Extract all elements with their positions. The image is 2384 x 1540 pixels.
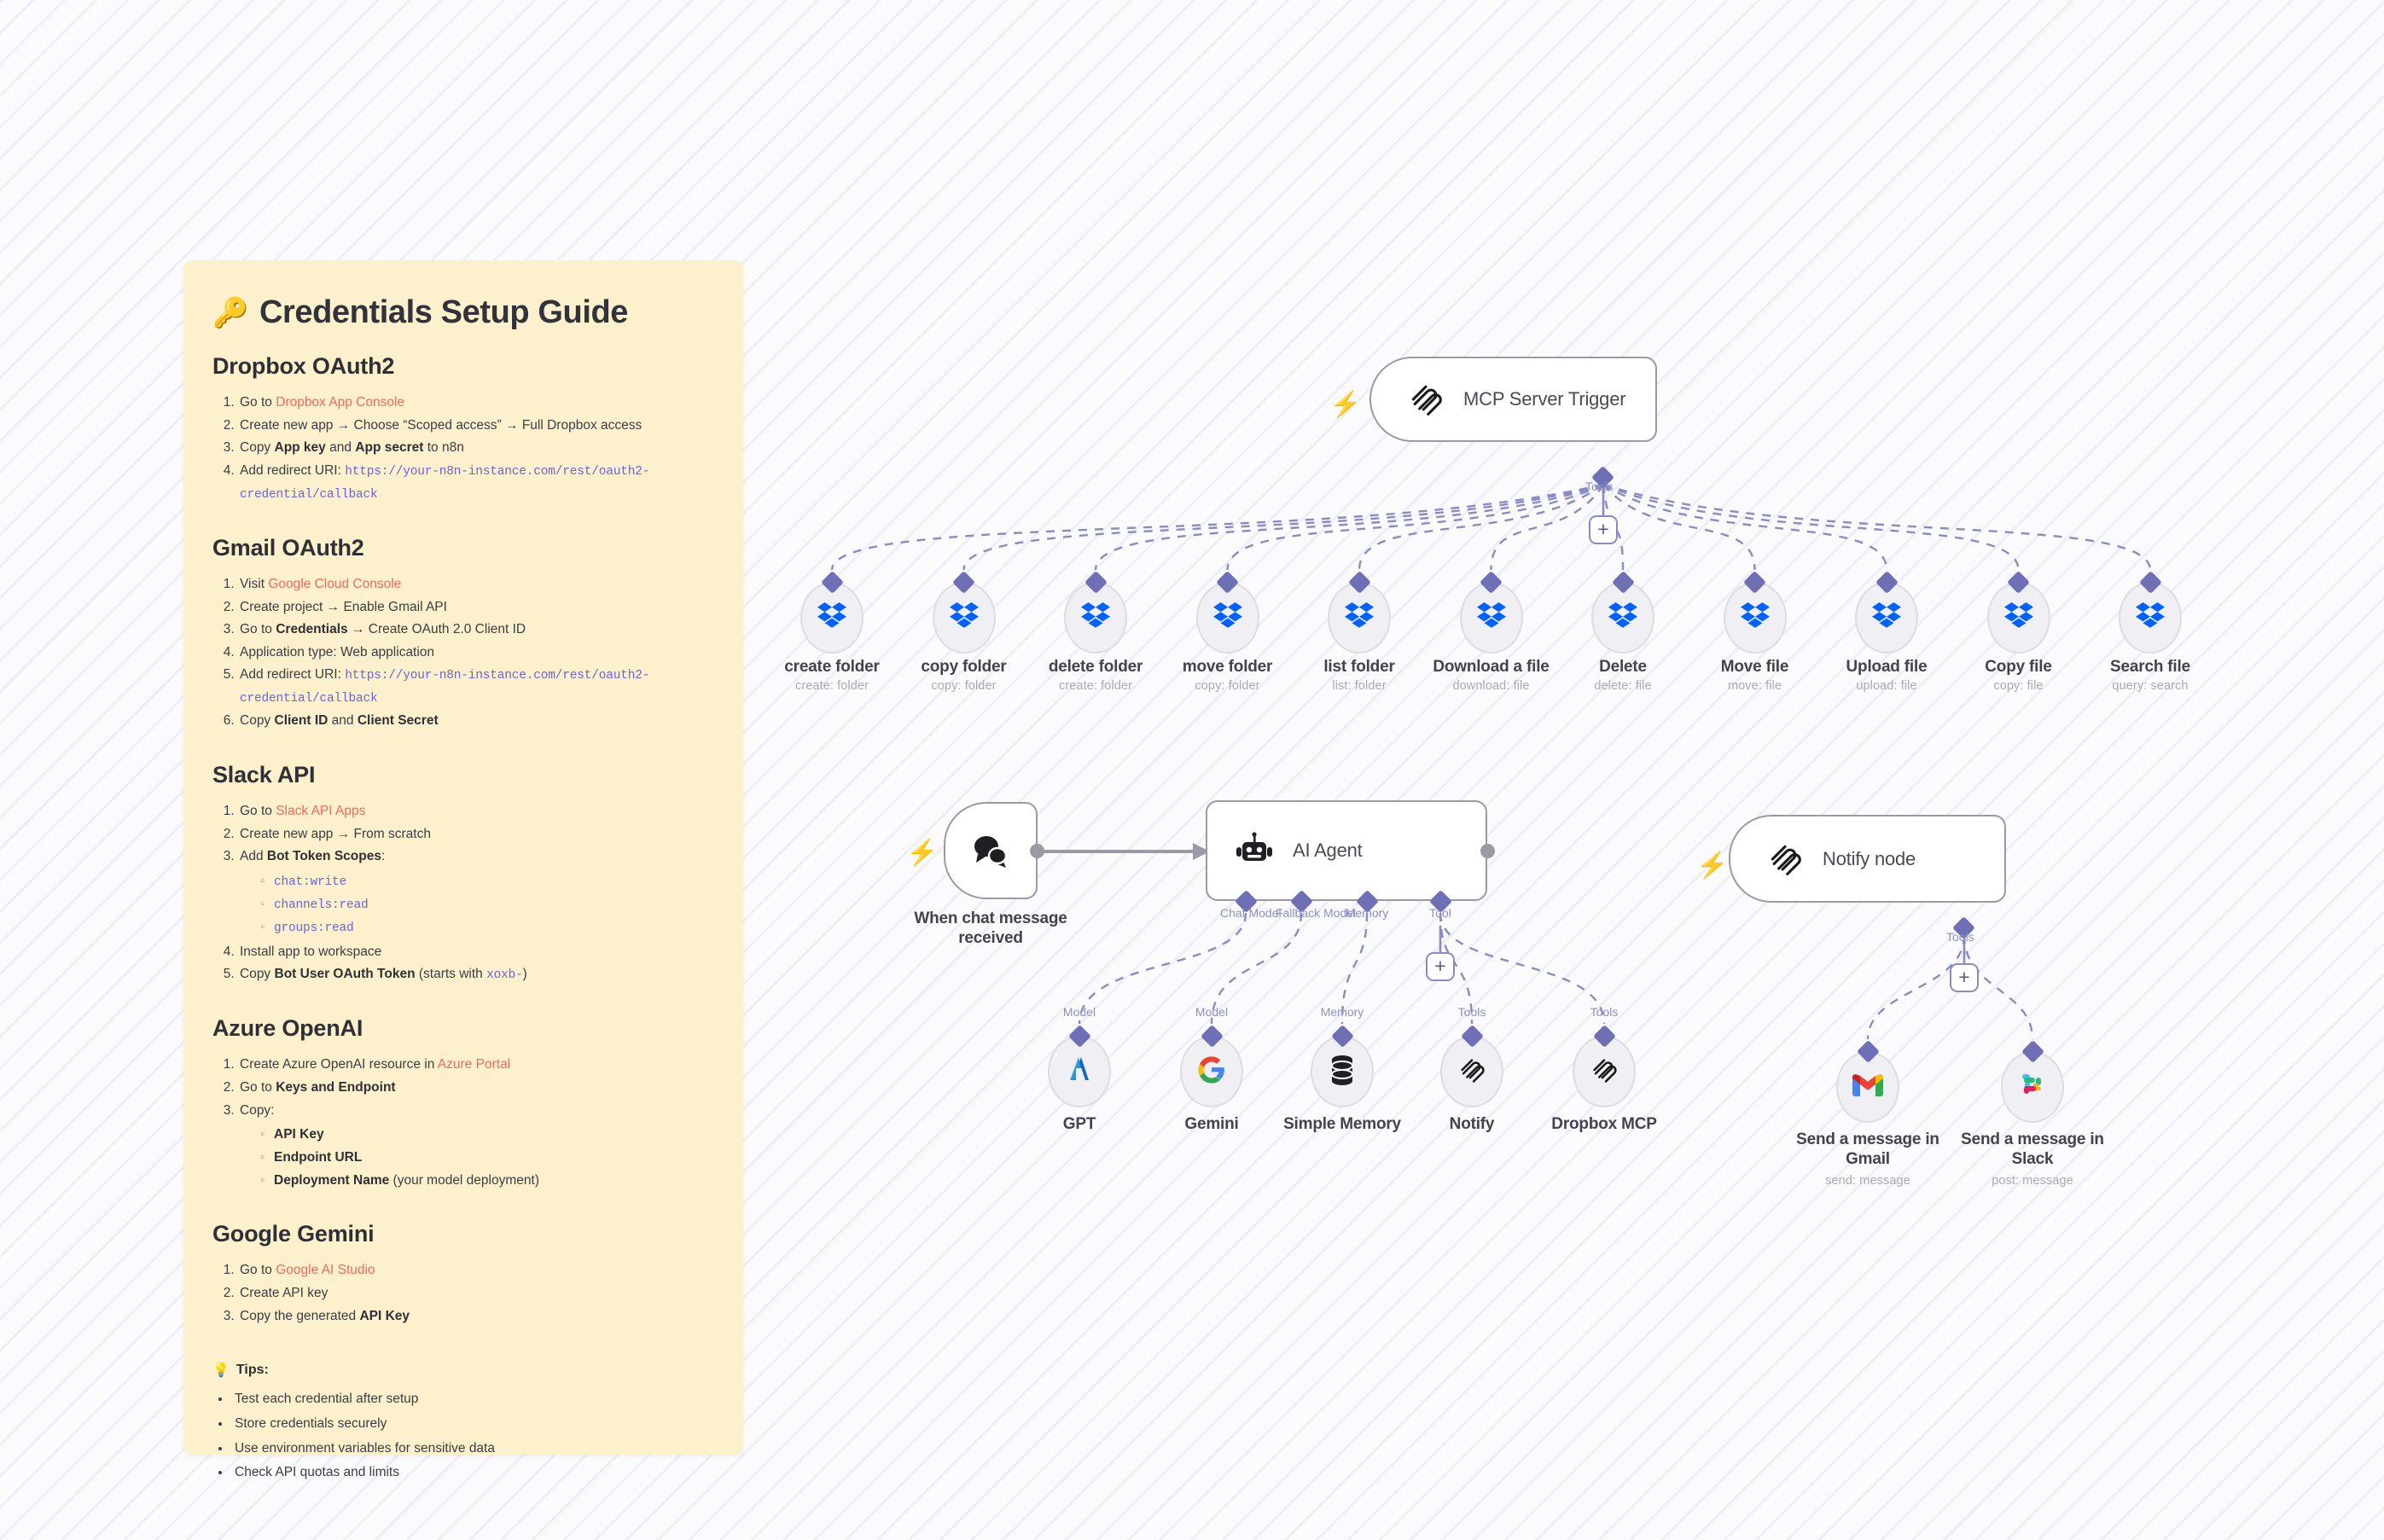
plain-text: :	[381, 849, 385, 863]
subcaption-tool: create: folder	[1027, 679, 1164, 693]
gmail-icon	[1852, 1073, 1883, 1101]
plain-text: Go to	[240, 622, 276, 636]
bold-text: Bot User OAuth Token	[275, 967, 416, 981]
caption-tool: Move file	[1687, 657, 1823, 677]
dropbox-icon	[2136, 602, 2165, 633]
google-gemini-icon	[1197, 1055, 1226, 1089]
step-item: Create new app → From scratch	[238, 823, 714, 846]
step-item: Create project → Enable Gmail API	[238, 596, 714, 619]
external-link[interactable]: Azure Portal	[438, 1057, 510, 1072]
bold-text: API Key	[274, 1127, 324, 1142]
plain-text: to n8n	[423, 440, 463, 455]
plain-text: Copy the generated	[240, 1309, 359, 1323]
section-heading: Azure OpenAI	[212, 1015, 714, 1042]
wire-mcp-tool	[1096, 485, 1603, 570]
plain-text: Go to	[240, 395, 276, 410]
bold-text: API Key	[359, 1309, 410, 1323]
tips-heading: 💡 Tips:	[212, 1362, 714, 1379]
step-item: Go to Google AI Studio	[238, 1259, 714, 1282]
bold-text: Keys and Endpoint	[276, 1080, 395, 1095]
wire-mcp-tool	[832, 485, 1603, 570]
node-label: AI Agent	[1293, 840, 1363, 862]
code-text: channels:read	[274, 898, 369, 912]
subcaption-tool: list: folder	[1291, 679, 1427, 693]
tips-label: Tips:	[236, 1363, 269, 1378]
caption-subnode: Notify	[1395, 1114, 1549, 1134]
step-item: Go to Credentials → Create OAuth 2.0 Cli…	[238, 619, 714, 642]
external-link[interactable]: Google AI Studio	[276, 1263, 375, 1277]
caption-chat-trigger: When chat message received	[893, 909, 1089, 948]
caption-tool: create folder	[764, 657, 900, 677]
step-subitem: API Key	[260, 1124, 714, 1147]
output-dot-ai-agent[interactable]	[1480, 844, 1495, 858]
plain-text: Add redirect URI:	[240, 667, 345, 682]
trigger-bolt-icon: ⚡	[1329, 392, 1361, 418]
step-sublist: chat:writechannels:readgroups:read	[240, 870, 714, 939]
n8n-mcp-icon	[1766, 840, 1804, 878]
slack-icon	[2019, 1072, 2046, 1103]
lightbulb-icon: 💡	[212, 1362, 230, 1379]
section-heading: Slack API	[212, 762, 714, 788]
subcaption-tool: copy: folder	[896, 679, 1032, 693]
section-steps: Go to Dropbox App ConsoleCreate new app …	[212, 392, 714, 506]
plain-text: Add	[240, 849, 267, 863]
caption-tool: Search file	[2082, 657, 2218, 677]
step-item: Add Bot Token Scopes:chat:writechannels:…	[238, 846, 714, 939]
bold-text: Client Secret	[358, 713, 439, 728]
dropbox-icon	[1477, 602, 1506, 633]
plain-text: Copy	[240, 440, 275, 455]
node-ai-agent[interactable]: AI Agent	[1206, 800, 1487, 901]
step-item: Add redirect URI: https://your-n8n-insta…	[238, 664, 714, 710]
node-when-chat-message-received[interactable]	[944, 802, 1038, 899]
dropbox-icon	[1213, 602, 1242, 633]
caption-notify-tool: Send a message in Gmail	[1778, 1130, 1957, 1169]
port-label-tool: Tool	[1415, 906, 1466, 920]
note-title-text: Credentials Setup Guide	[259, 294, 628, 331]
plain-text: Copy	[240, 967, 275, 981]
caption-tool: move folder	[1160, 657, 1296, 677]
step-subitem: channels:read	[260, 893, 714, 916]
dropbox-icon	[1872, 602, 1901, 633]
step-item: Go to Dropbox App Console	[238, 392, 714, 415]
step-item: Copy App key and App secret to n8n	[238, 437, 714, 460]
step-item: Visit Google Cloud Console	[238, 573, 714, 596]
external-link[interactable]: Google Cloud Console	[268, 577, 401, 591]
external-link[interactable]: Dropbox App Console	[276, 395, 404, 410]
port-label-subnode: Model	[1177, 1005, 1246, 1019]
bold-text: Client ID	[275, 713, 329, 728]
port-label-subnode: Tools	[1438, 1005, 1506, 1019]
caption-tool: Delete	[1555, 657, 1691, 677]
bold-text: Deployment Name	[274, 1173, 389, 1188]
azure-icon	[1064, 1055, 1095, 1090]
plain-text: Create API key	[240, 1286, 328, 1300]
dropbox-icon	[1345, 602, 1374, 633]
add-tool-button-agent[interactable]: +	[1426, 952, 1455, 981]
port-label-chat-model: Chat Model	[1220, 906, 1271, 920]
plain-text: Create Azure OpenAI resource in	[240, 1057, 438, 1072]
caption-subnode: GPT	[1003, 1114, 1156, 1134]
wire-mcp-tool	[1603, 485, 1755, 570]
subcaption-notify-tool: send: message	[1778, 1174, 1957, 1188]
code-text: xoxb-	[486, 968, 523, 982]
subcaption-tool: download: file	[1423, 679, 1560, 693]
step-sublist: API KeyEndpoint URLDeployment Name (your…	[240, 1124, 714, 1192]
plain-text: Go to	[240, 1263, 276, 1277]
dropbox-icon	[2004, 602, 2033, 633]
subcaption-tool: copy: file	[1951, 679, 2087, 693]
bold-text: Endpoint URL	[274, 1150, 362, 1165]
tip-item: Check API quotas and limits	[231, 1461, 714, 1485]
tip-item: Store credentials securely	[231, 1412, 714, 1437]
step-item: Go to Keys and Endpoint	[238, 1077, 714, 1100]
subcaption-tool: move: file	[1687, 679, 1823, 693]
notify-bolt-icon: ⚡	[1696, 853, 1728, 879]
wire-mcp-tool	[1228, 485, 1604, 570]
page-title: 🔑 Credentials Setup Guide	[212, 294, 714, 331]
wire-mcp-tool	[964, 485, 1604, 570]
tip-item: Use environment variables for sensitive …	[231, 1437, 714, 1462]
subcaption-tool: delete: file	[1555, 679, 1691, 693]
port-label-fallback-model: Fallback Model	[1276, 906, 1327, 920]
step-item: Create Azure OpenAI resource in Azure Po…	[238, 1054, 714, 1077]
port-label-mcp-tools: Tools	[1585, 479, 1614, 493]
subcaption-tool: upload: file	[1818, 679, 1955, 693]
wire-mcp-tool	[1603, 485, 2019, 570]
caption-tool: Upload file	[1818, 657, 1955, 677]
section-steps: Go to Slack API AppsCreate new app → Fro…	[212, 800, 714, 986]
step-item: Create new app → Choose “Scoped access” …	[238, 415, 714, 438]
caption-tool: Download a file	[1423, 657, 1560, 677]
node-label: Notify node	[1823, 848, 1916, 870]
plain-text: Add redirect URI:	[240, 463, 345, 478]
step-item: Copy the generated API Key	[238, 1305, 714, 1328]
section-heading: Gmail OAuth2	[212, 535, 714, 561]
step-item: Copy Bot User OAuth Token (starts with x…	[238, 963, 714, 986]
node-notify[interactable]: Notify node	[1729, 815, 2006, 903]
wire-mcp-tool	[1491, 485, 1604, 570]
wire-mcp-tool	[1603, 485, 2150, 570]
tips-list: Test each credential after setupStore cr…	[212, 1387, 714, 1485]
external-link[interactable]: Slack API Apps	[276, 804, 365, 818]
step-item: Copy:API KeyEndpoint URLDeployment Name …	[238, 1100, 714, 1193]
credential-sections: Dropbox OAuth2Go to Dropbox App ConsoleC…	[212, 353, 714, 1328]
plain-text: Visit	[240, 577, 268, 591]
code-text: groups:read	[274, 921, 354, 935]
dropbox-icon	[1081, 602, 1110, 633]
wire-mcp-tool	[1603, 485, 1887, 570]
step-item: Add redirect URI: https://your-n8n-insta…	[238, 460, 714, 506]
dropbox-icon	[1608, 602, 1637, 633]
plain-text: Go to	[240, 804, 276, 818]
n8n-mcp-icon	[1457, 1055, 1486, 1089]
n8n-mcp-icon	[1407, 381, 1445, 418]
section-steps: Visit Google Cloud ConsoleCreate project…	[212, 573, 714, 733]
port-label-subnode: Model	[1045, 1005, 1114, 1019]
section-steps: Go to Google AI StudioCreate API keyCopy…	[212, 1259, 714, 1328]
step-item: Application type: Web application	[238, 642, 714, 665]
database-icon	[1329, 1055, 1355, 1090]
plain-text: Create new app → From scratch	[240, 827, 431, 841]
key-icon: 🔑	[212, 299, 248, 328]
node-label: MCP Server Trigger	[1463, 388, 1625, 410]
plain-text: )	[523, 967, 527, 981]
plain-text: Install app to workspace	[240, 944, 381, 959]
bold-text: App secret	[355, 440, 423, 455]
plain-text: (starts with	[416, 967, 487, 981]
port-label-subnode: Tools	[1570, 1005, 1638, 1019]
caption-tool: Copy file	[1951, 657, 2087, 677]
add-tool-button-notify[interactable]: +	[1950, 963, 1979, 992]
dropbox-icon	[950, 602, 979, 633]
caption-tool: copy folder	[896, 657, 1032, 677]
step-subitem: chat:write	[260, 870, 714, 893]
code-text: chat:write	[274, 875, 346, 889]
caption-tool: list folder	[1291, 657, 1427, 677]
robot-icon	[1235, 831, 1274, 870]
port-label-memory: Memory	[1341, 906, 1393, 920]
subcaption-notify-tool: post: message	[1943, 1174, 2122, 1188]
step-item: Go to Slack API Apps	[238, 800, 714, 823]
dropbox-icon	[817, 602, 846, 633]
wire-mcp-tool	[1359, 485, 1603, 570]
bold-text: App key	[275, 440, 326, 455]
plain-text: and	[328, 713, 357, 728]
step-subitem: groups:read	[260, 916, 714, 939]
step-subitem: Deployment Name (your model deployment)	[260, 1170, 714, 1193]
section-heading: Dropbox OAuth2	[212, 353, 714, 380]
bold-text: Bot Token Scopes	[267, 849, 381, 863]
subcaption-tool: query: search	[2082, 679, 2218, 693]
plain-text: Create new app → Choose “Scoped access” …	[240, 418, 642, 433]
port-label-notify-tools: Tools	[1946, 930, 1974, 944]
plain-text: (your model deployment)	[389, 1173, 539, 1188]
port-label-subnode: Memory	[1308, 1005, 1376, 1019]
sticky-note-credentials-guide[interactable]: 🔑 Credentials Setup Guide Dropbox OAuth2…	[183, 260, 743, 1455]
dropbox-icon	[1741, 602, 1770, 633]
tip-item: Test each credential after setup	[231, 1387, 714, 1412]
step-item: Install app to workspace	[238, 941, 714, 964]
chat-bubbles-icon	[969, 832, 1012, 869]
caption-subnode: Dropbox MCP	[1527, 1114, 1681, 1134]
section-steps: Create Azure OpenAI resource in Azure Po…	[212, 1054, 714, 1192]
plain-text: Go to	[240, 1080, 276, 1095]
caption-tool: delete folder	[1027, 657, 1164, 677]
add-tool-button-mcp[interactable]: +	[1589, 515, 1618, 544]
plain-text: and	[326, 440, 355, 455]
plain-text: Create project → Enable Gmail API	[240, 600, 447, 614]
node-mcp-server-trigger[interactable]: MCP Server Trigger	[1369, 357, 1657, 442]
subcaption-tool: copy: folder	[1160, 679, 1296, 693]
subcaption-tool: create: folder	[764, 679, 900, 693]
n8n-mcp-icon	[1590, 1055, 1619, 1089]
step-item: Copy Client ID and Client Secret	[238, 710, 714, 733]
step-subitem: Endpoint URL	[260, 1147, 714, 1170]
bold-text: Credentials	[276, 622, 347, 636]
caption-notify-tool: Send a message in Slack	[1943, 1130, 2122, 1169]
plain-text: Application type: Web application	[240, 645, 434, 660]
step-item: Create API key	[238, 1282, 714, 1305]
plain-text: → Create OAuth 2.0 Client ID	[348, 622, 526, 636]
section-heading: Google Gemini	[212, 1221, 714, 1247]
chat-trigger-bolt-icon: ⚡	[906, 840, 938, 866]
plain-text: Copy	[240, 713, 275, 728]
plain-text: Copy:	[240, 1103, 275, 1118]
output-dot-chat-trigger[interactable]	[1030, 844, 1044, 858]
